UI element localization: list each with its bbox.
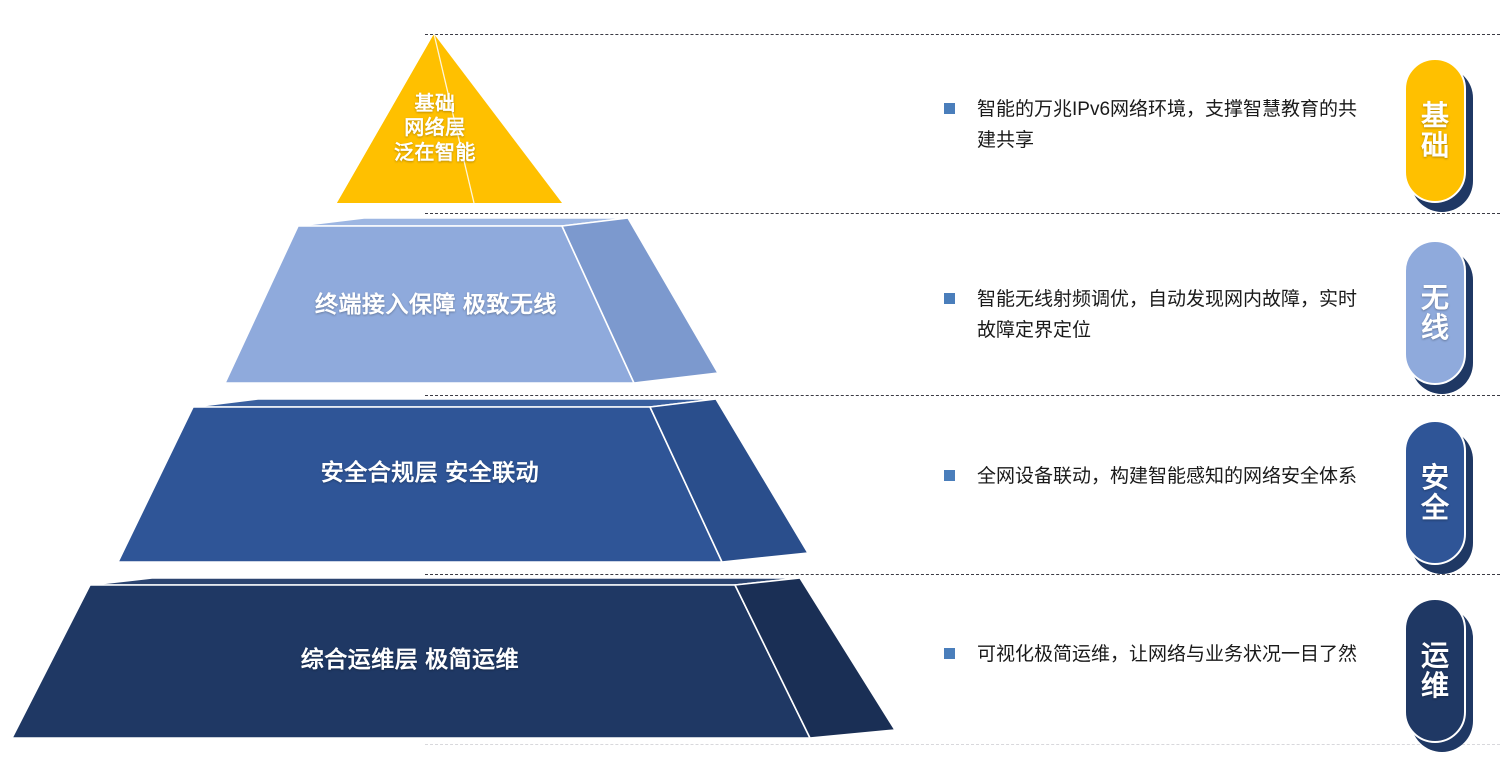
layer-2-description: 智能无线射频调优，自动发现网内故障，实时故障定界定位 (977, 285, 1369, 347)
tag-pill-wireless-label: 无线 (1421, 283, 1449, 342)
bullet-square-icon (944, 648, 955, 659)
description-row-2: 智能无线射频调优，自动发现网内故障，实时故障定界定位 (944, 285, 1369, 347)
tag-pill-ops-label: 运维 (1421, 641, 1449, 700)
description-row-1: 智能的万兆IPv6网络环境，支撑智慧教育的共建共享 (944, 95, 1369, 157)
layer-1-caption: 基础 网络层 泛在智能 (355, 92, 515, 165)
layer-3-description: 全网设备联动，构建智能感知的网络安全体系 (977, 462, 1369, 493)
pyramid-diagram: 基础 网络层 泛在智能 终端接入保障 极致无线 安全合规层 安全联动 综合运维层… (0, 0, 1510, 779)
pill-body: 安全 (1404, 420, 1466, 565)
layer-2-caption: 终端接入保障 极致无线 (226, 290, 646, 318)
tag-pill-security[interactable]: 安全 (1404, 420, 1466, 565)
description-row-4: 可视化极简运维，让网络与业务状况一目了然 (944, 640, 1369, 671)
layer-3-top-face (193, 399, 716, 407)
layer-1-description: 智能的万兆IPv6网络环境，支撑智慧教育的共建共享 (977, 95, 1369, 157)
tag-pill-security-label: 安全 (1421, 463, 1449, 522)
description-row-3: 全网设备联动，构建智能感知的网络安全体系 (944, 462, 1369, 493)
pill-body: 无线 (1404, 240, 1466, 385)
tag-pill-ops[interactable]: 运维 (1404, 598, 1466, 743)
bullet-square-icon (944, 470, 955, 481)
layer-4-caption: 综合运维层 极简运维 (90, 645, 730, 673)
tag-pill-wireless[interactable]: 无线 (1404, 240, 1466, 385)
pill-body: 基础 (1404, 58, 1466, 203)
pill-body: 运维 (1404, 598, 1466, 743)
tag-pill-base-label: 基础 (1421, 101, 1449, 160)
layer-4-top-face (90, 578, 800, 585)
bullet-square-icon (944, 293, 955, 304)
tag-pill-base[interactable]: 基础 (1404, 58, 1466, 203)
layer-4-description: 可视化极简运维，让网络与业务状况一目了然 (977, 640, 1369, 671)
layer-3-caption: 安全合规层 安全联动 (160, 458, 700, 486)
bullet-square-icon (944, 103, 955, 114)
